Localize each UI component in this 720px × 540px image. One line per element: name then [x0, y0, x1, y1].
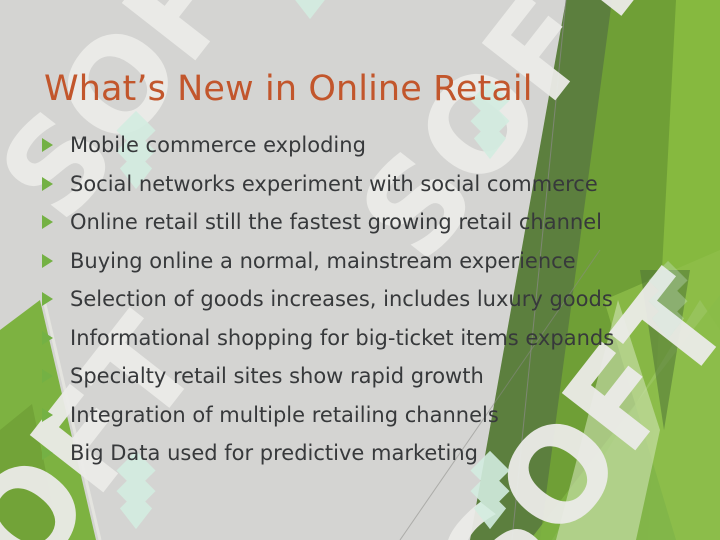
- presentation-slide: SOFT SOFT SOFT SOFT What’s New in Online…: [0, 0, 720, 540]
- list-item: Mobile commerce exploding: [40, 126, 690, 165]
- list-item-label: Big Data used for predictive marketing: [70, 440, 478, 466]
- triangle-bullet-icon: [42, 215, 53, 229]
- triangle-bullet-icon: [42, 292, 53, 306]
- list-item: Buying online a normal, mainstream exper…: [40, 242, 690, 281]
- triangle-bullet-icon: [42, 446, 53, 460]
- triangle-bullet-icon: [42, 369, 53, 383]
- bullet-list: Mobile commerce exploding Social network…: [40, 126, 690, 473]
- triangle-bullet-icon: [42, 177, 53, 191]
- triangle-bullet-icon: [42, 408, 53, 422]
- triangle-bullet-icon: [42, 138, 53, 152]
- list-item: Specialty retail sites show rapid growth: [40, 357, 690, 396]
- list-item-label: Integration of multiple retailing channe…: [70, 402, 499, 428]
- list-item-label: Informational shopping for big-ticket it…: [70, 325, 614, 351]
- list-item-label: Mobile commerce exploding: [70, 132, 366, 158]
- list-item: Social networks experiment with social c…: [40, 165, 690, 204]
- list-item: Selection of goods increases, includes l…: [40, 280, 690, 319]
- page-title: What’s New in Online Retail: [44, 67, 533, 111]
- list-item-label: Selection of goods increases, includes l…: [70, 286, 613, 312]
- slide-content: What’s New in Online Retail Mobile comme…: [0, 0, 720, 540]
- list-item-label: Social networks experiment with social c…: [70, 171, 598, 197]
- list-item-label: Online retail still the fastest growing …: [70, 209, 602, 235]
- list-item: Online retail still the fastest growing …: [40, 203, 690, 242]
- list-item: Big Data used for predictive marketing: [40, 434, 690, 473]
- triangle-bullet-icon: [42, 331, 53, 345]
- triangle-bullet-icon: [42, 254, 53, 268]
- list-item-label: Buying online a normal, mainstream exper…: [70, 248, 576, 274]
- list-item: Integration of multiple retailing channe…: [40, 396, 690, 435]
- list-item: Informational shopping for big-ticket it…: [40, 319, 690, 358]
- list-item-label: Specialty retail sites show rapid growth: [70, 363, 484, 389]
